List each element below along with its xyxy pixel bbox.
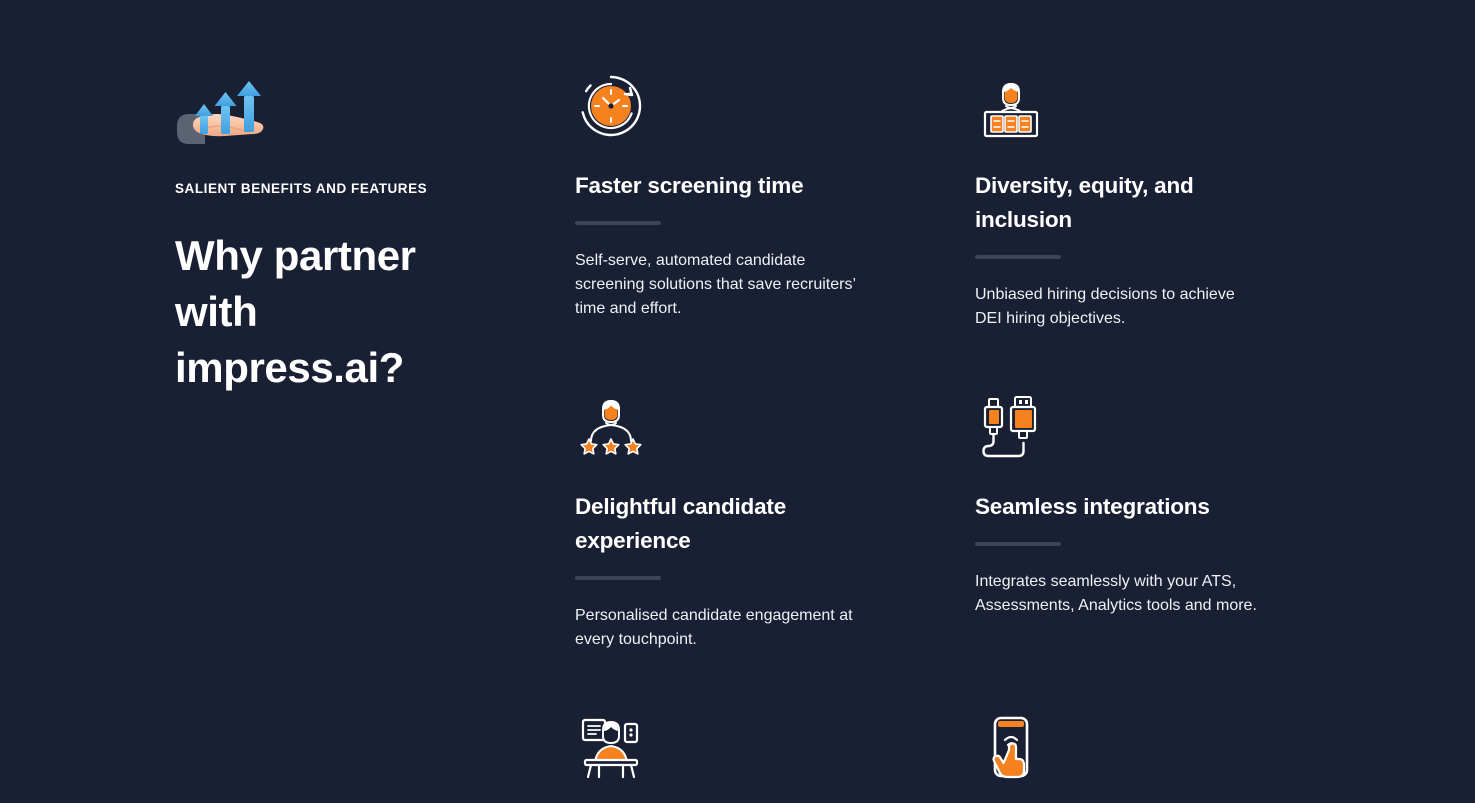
feature-description: Personalised candidate engagement at eve… bbox=[575, 604, 865, 652]
feature-card: Delightful candidate experience Personal… bbox=[575, 391, 875, 712]
feature-card: Seamless integrations Integrates seamles… bbox=[975, 391, 1275, 712]
feature-card bbox=[975, 712, 1275, 803]
feature-title: Seamless integrations bbox=[975, 490, 1261, 524]
hand-with-rising-arrows-icon bbox=[175, 78, 271, 156]
feature-title: Diversity, equity, and inclusion bbox=[975, 169, 1261, 237]
section-eyebrow: SALIENT BENEFITS AND FEATURES bbox=[175, 180, 505, 198]
feature-grid: Faster screening time Self-serve, automa… bbox=[575, 70, 1335, 803]
page-title: Why partner with impress.ai? bbox=[175, 228, 445, 396]
diversity-panel-icon bbox=[975, 70, 1275, 145]
feature-description: Unbiased hiring decisions to achieve DEI… bbox=[975, 283, 1261, 331]
clock-speed-icon bbox=[575, 70, 875, 145]
benefits-section: SALIENT BENEFITS AND FEATURES Why partne… bbox=[0, 0, 1475, 803]
title-divider bbox=[975, 255, 1061, 259]
feature-card: Faster screening time Self-serve, automa… bbox=[575, 70, 875, 391]
feature-title: Faster screening time bbox=[575, 169, 865, 203]
feature-title: Delightful candidate experience bbox=[575, 490, 865, 558]
mobile-tap-hand-icon bbox=[975, 712, 1275, 787]
person-at-desk-documents-icon bbox=[575, 712, 875, 787]
intro-block: SALIENT BENEFITS AND FEATURES Why partne… bbox=[175, 78, 505, 396]
feature-description: Self-serve, automated candidate screenin… bbox=[575, 249, 865, 321]
feature-description: Integrates seamlessly with your ATS, Ass… bbox=[975, 570, 1261, 618]
feature-card: Diversity, equity, and inclusion Unbiase… bbox=[975, 70, 1275, 391]
title-divider bbox=[575, 221, 661, 225]
feature-card bbox=[575, 712, 875, 803]
title-divider bbox=[575, 576, 661, 580]
title-divider bbox=[975, 542, 1061, 546]
candidate-rating-stars-icon bbox=[575, 391, 875, 466]
usb-connectors-icon bbox=[975, 391, 1275, 466]
